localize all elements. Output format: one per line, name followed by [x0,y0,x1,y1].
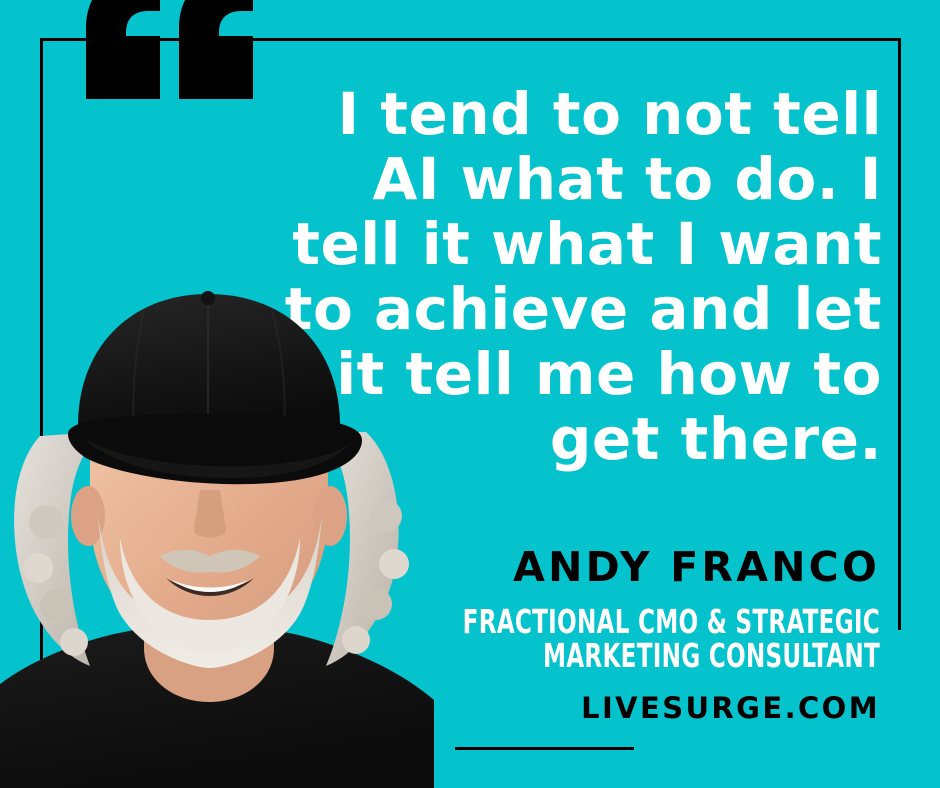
quote-poster: I tend to not tell AI what to do. I tell… [0,0,940,788]
quotation-mark-icon [82,0,257,156]
author-role: FRACTIONAL CMO & STRATEGIC MARKETING CON… [459,605,880,672]
attribution-block: ANDY FRANCO FRACTIONAL CMO & STRATEGIC M… [340,546,880,725]
frame-border-left [40,38,43,750]
frame-border-right [898,38,901,630]
author-website: LIVESURGE.COM [340,691,880,725]
quote-text: I tend to not tell AI what to do. I tell… [262,82,882,472]
author-name: ANDY FRANCO [340,546,880,589]
frame-border-bottom [455,747,634,750]
